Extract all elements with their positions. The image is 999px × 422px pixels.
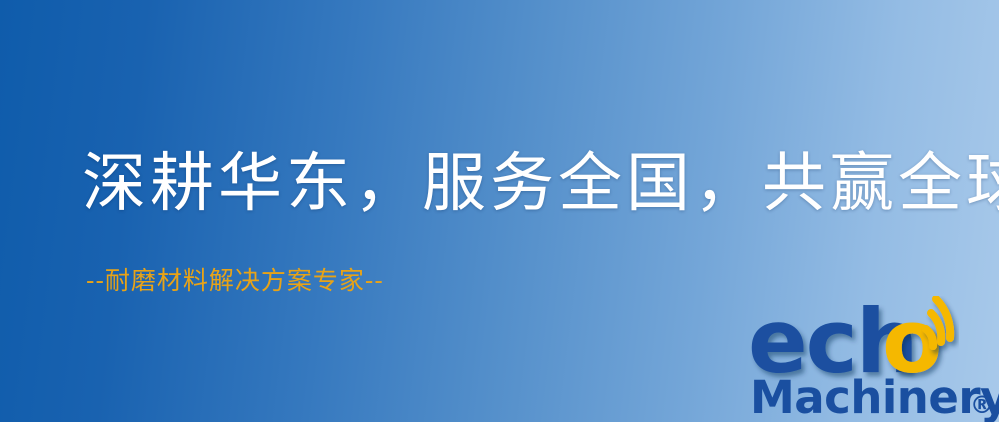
- registered-trademark-icon: ®: [970, 391, 994, 419]
- logo-tagline-text: Machinery: [750, 371, 999, 422]
- logo-tagline-group: Machinery ®: [750, 371, 999, 422]
- company-logo[interactable]: ech o Machinery ®: [748, 296, 999, 422]
- banner-headline: 深耕华东，服务全国，共赢全球: [82, 152, 999, 216]
- banner-subtitle: --耐磨材料解决方案专家--: [86, 268, 384, 293]
- hero-banner: 深耕华东，服务全国，共赢全球 --耐磨材料解决方案专家-- ech o: [0, 0, 999, 422]
